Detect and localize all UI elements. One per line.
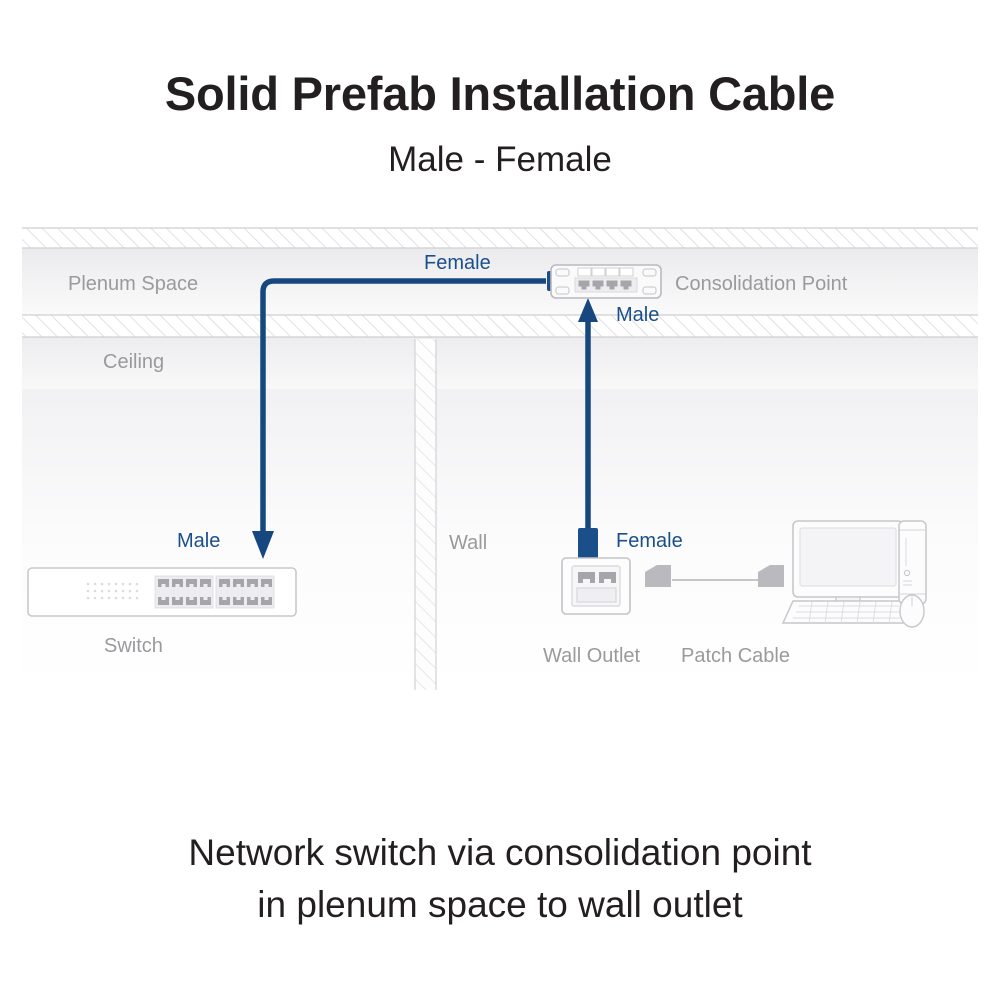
- connector-label-male-consolidation: Male: [616, 304, 659, 327]
- connector-label-female-outlet: Female: [616, 530, 683, 553]
- computer-tower: [899, 521, 926, 604]
- device-label-patch-cable: Patch Cable: [681, 645, 790, 668]
- caption-line-2: in plenum space to wall outlet: [0, 884, 1000, 926]
- monitor-screen: [800, 528, 896, 586]
- wall-column: [415, 339, 436, 690]
- room-area: [22, 337, 978, 690]
- switch-device[interactable]: [28, 568, 296, 616]
- connector-label-male-switch: Male: [177, 530, 220, 553]
- slab-hatch-top: [22, 228, 978, 248]
- zone-label-ceiling: Ceiling: [103, 351, 164, 374]
- device-label-wall-outlet: Wall Outlet: [543, 645, 640, 668]
- zone-label-plenum-space: Plenum Space: [68, 273, 198, 296]
- ceiling-band: [22, 337, 978, 389]
- device-label-consolidation-point: Consolidation Point: [675, 273, 847, 296]
- zone-label-wall: Wall: [449, 532, 487, 555]
- desktop-computer-graphic: [783, 521, 926, 627]
- consolidation-point-device[interactable]: [547, 265, 661, 298]
- caption-line-1: Network switch via consolidation point: [0, 832, 1000, 874]
- female-plug-outlet: [578, 528, 598, 560]
- wall-outlet-label-strip: [577, 588, 616, 602]
- device-label-switch: Switch: [104, 635, 163, 658]
- slab-hatch-mid: [22, 315, 978, 337]
- diagram-canvas: Solid Prefab Installation Cable Male - F…: [0, 0, 1000, 1000]
- connector-label-female-consolidation: Female: [424, 252, 491, 275]
